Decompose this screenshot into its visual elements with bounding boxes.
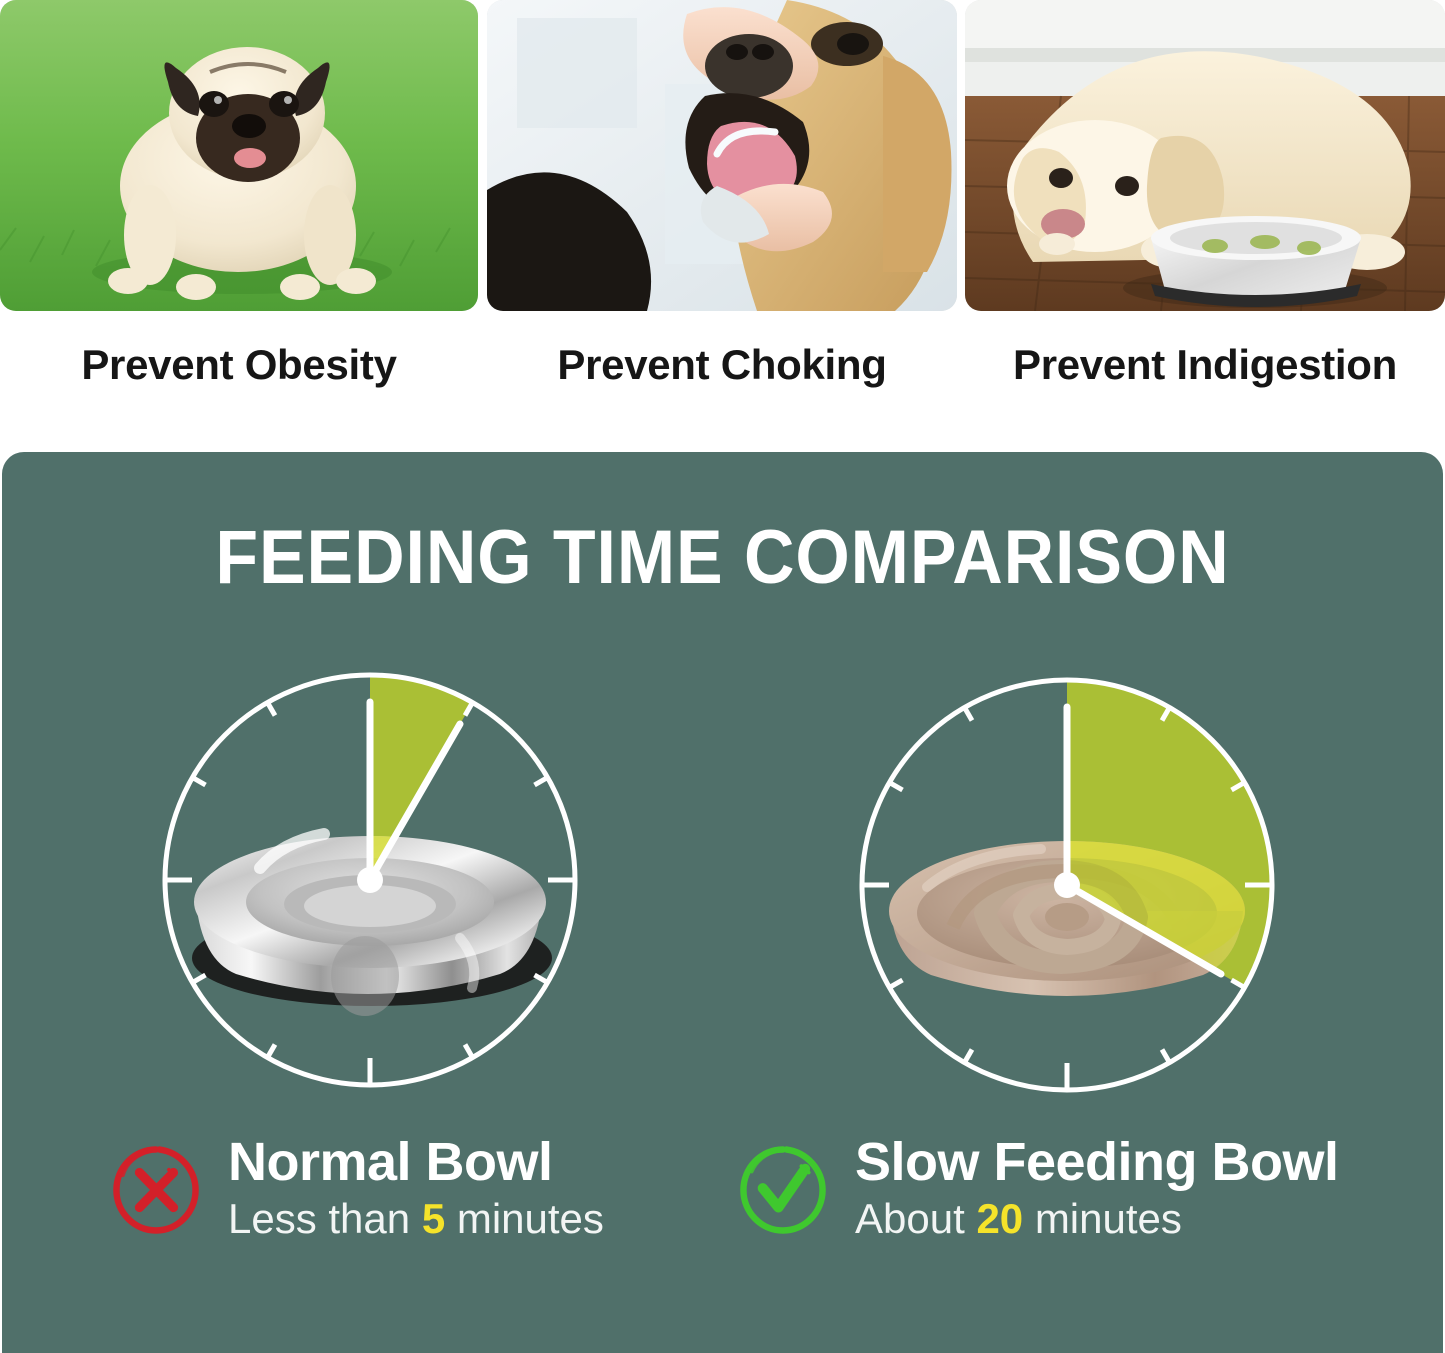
clock-center-hub	[1054, 872, 1080, 898]
result-slow-feeding-bowl-value: 20	[976, 1195, 1023, 1242]
red-x-circle-icon	[110, 1144, 202, 1236]
panel-title: FEEDING TIME COMPARISON	[60, 514, 1386, 601]
result-normal-bowl-sub-suffix: minutes	[445, 1195, 604, 1242]
hands-opening-dog-mouth-image	[487, 0, 957, 311]
benefit-photo-obesity	[0, 0, 478, 311]
result-normal-bowl-sub-prefix: Less than	[228, 1195, 422, 1242]
result-normal-bowl-title: Normal Bowl	[228, 1134, 604, 1191]
benefit-caption-choking: Prevent Choking	[487, 341, 957, 389]
result-normal-bowl-value: 5	[422, 1195, 445, 1242]
result-normal-bowl-text: Normal Bowl Less than 5 minutes	[228, 1134, 604, 1245]
result-slow-feeding-bowl-sub-prefix: About	[855, 1195, 976, 1242]
result-slow-feeding-bowl-subtitle: About 20 minutes	[855, 1193, 1339, 1246]
benefits-caption-row: Prevent Obesity Prevent Choking Prevent …	[0, 315, 1445, 435]
slow-feeding-bowl-clock	[857, 675, 1277, 1095]
result-slow-feeding-bowl: Slow Feeding Bowl About 20 minutes	[737, 1134, 1339, 1245]
result-slow-feeding-bowl-text: Slow Feeding Bowl About 20 minutes	[855, 1134, 1339, 1245]
labrador-beside-bowl-image	[965, 0, 1445, 311]
slow-feeding-bowl-clock-dial	[857, 675, 1277, 1095]
result-slow-feeding-bowl-sub-suffix: minutes	[1023, 1195, 1182, 1242]
result-normal-bowl-subtitle: Less than 5 minutes	[228, 1193, 604, 1246]
overweight-pug-on-grass-image	[0, 0, 478, 311]
benefits-photo-strip	[0, 0, 1445, 315]
benefit-caption-obesity: Prevent Obesity	[0, 341, 478, 389]
benefit-caption-indigestion: Prevent Indigestion	[965, 341, 1445, 389]
normal-bowl-clock-dial	[160, 670, 580, 1090]
feeding-time-comparison-panel: FEEDING TIME COMPARISON	[2, 452, 1443, 1353]
normal-bowl-clock	[160, 670, 580, 1090]
clock-center-hub	[357, 867, 383, 893]
result-slow-feeding-bowl-title: Slow Feeding Bowl	[855, 1134, 1339, 1191]
benefit-photo-choking	[487, 0, 957, 311]
result-normal-bowl: Normal Bowl Less than 5 minutes	[110, 1134, 604, 1245]
green-check-circle-icon	[737, 1144, 829, 1236]
benefit-photo-indigestion	[965, 0, 1445, 311]
